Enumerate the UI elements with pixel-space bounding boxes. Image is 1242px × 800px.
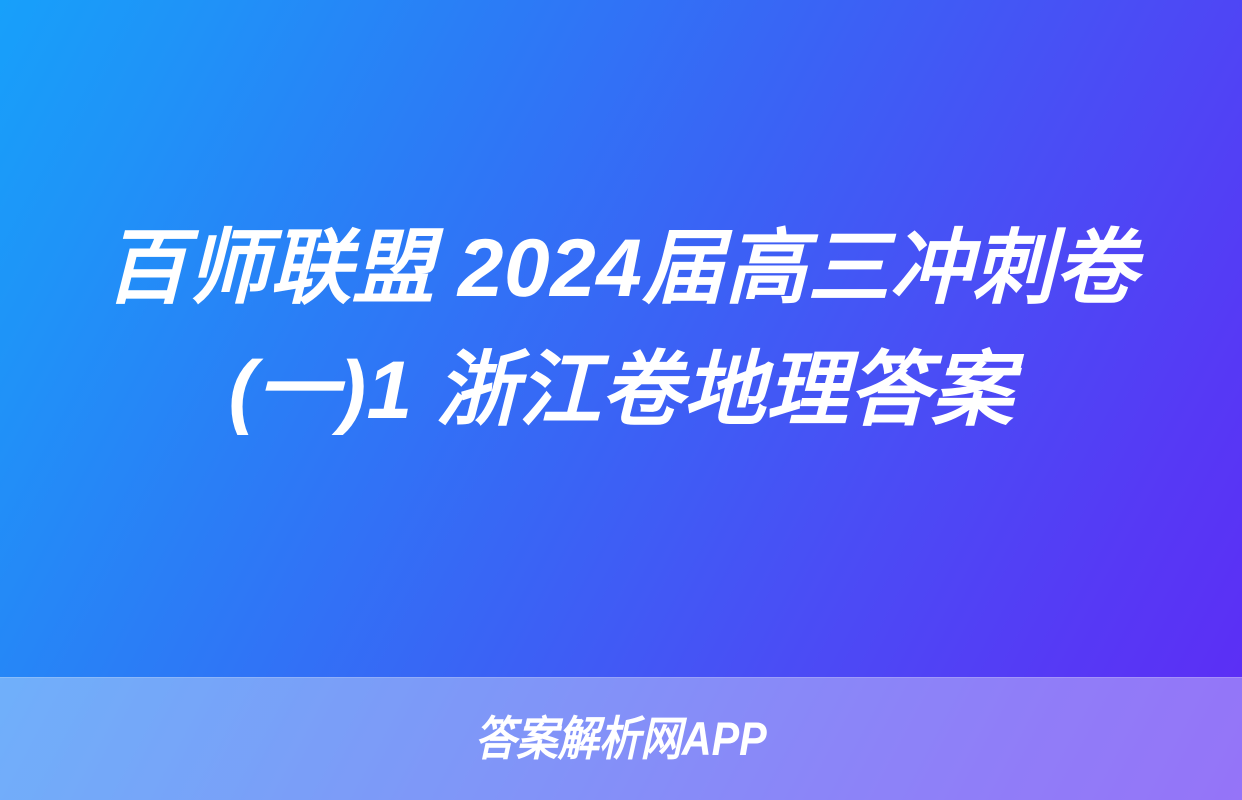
page-title: 百师联盟 2024届高三冲刺卷(一)1 浙江卷地理答案 xyxy=(79,208,1163,451)
app-watermark-label: 答案解析网APP xyxy=(475,715,767,762)
watermark-band: 答案解析网APP xyxy=(0,677,1242,800)
share-card-canvas: 百师联盟 2024届高三冲刺卷(一)1 浙江卷地理答案 答案解析网APP xyxy=(0,0,1242,800)
hero-section: 百师联盟 2024届高三冲刺卷(一)1 浙江卷地理答案 xyxy=(0,0,1242,677)
